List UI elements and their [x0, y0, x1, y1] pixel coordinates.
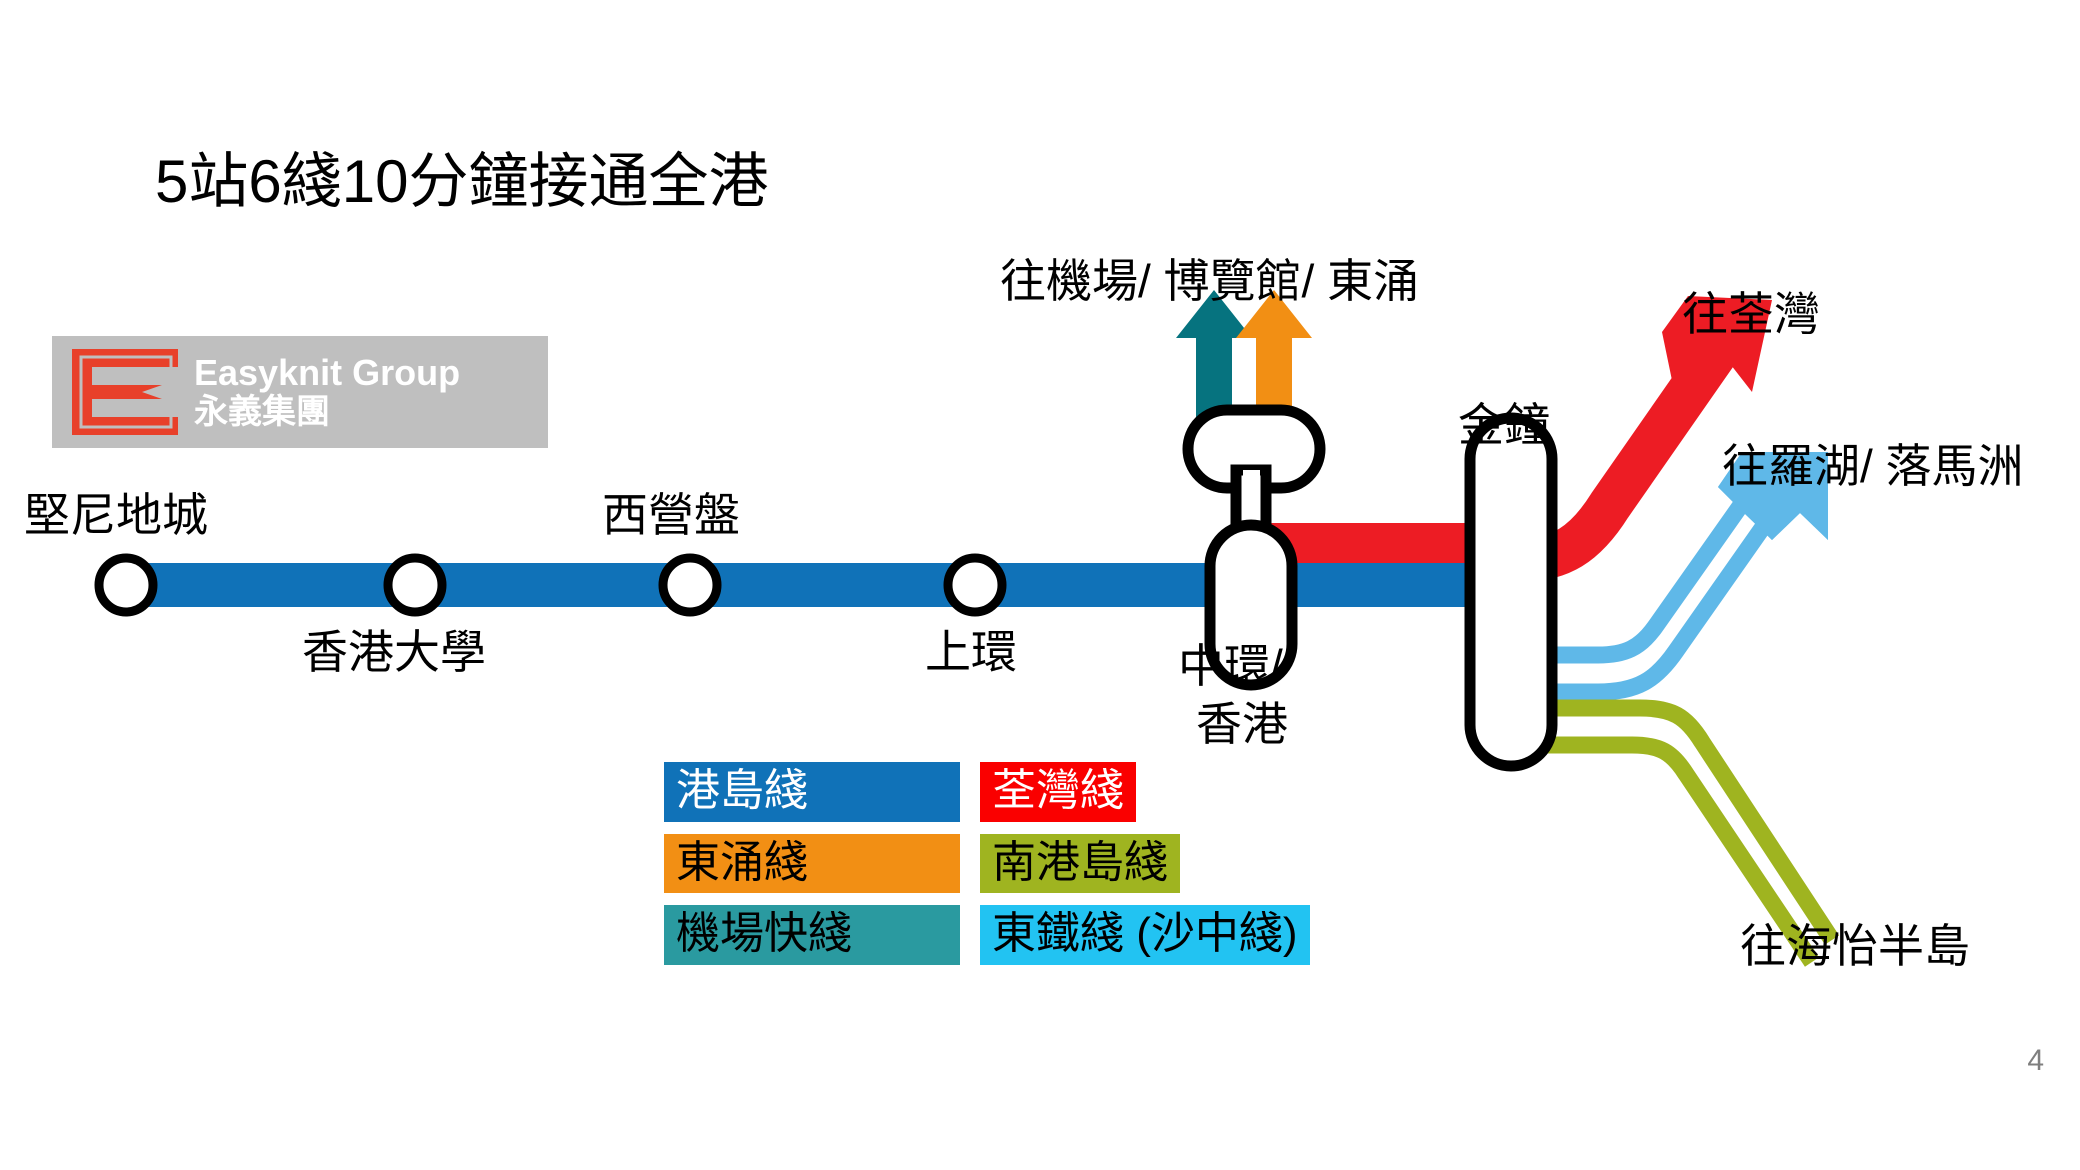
- island-line-track: [110, 563, 1530, 607]
- station-label-hku: 香港大學: [302, 625, 486, 679]
- page-number: 4: [2027, 1044, 2044, 1078]
- legend-chip-tsuen-wan-line[interactable]: 荃灣綫: [980, 762, 1136, 822]
- station-label-central-line1: 中環/: [1178, 638, 1283, 696]
- legend-chip-airport-express[interactable]: 機場快綫: [664, 905, 960, 965]
- logo-chinese-name: 永義集團: [194, 393, 460, 431]
- station-marker-hku[interactable]: [388, 558, 442, 612]
- station-marker-kennedy-town[interactable]: [99, 558, 153, 612]
- station-marker-admiralty[interactable]: [1470, 418, 1552, 766]
- station-label-admiralty: 金鐘: [1458, 398, 1550, 452]
- legend-chip-south-island-line[interactable]: 南港島綫: [980, 834, 1180, 894]
- destination-label-lo-wu: 往羅湖/ 落馬洲: [1722, 440, 2024, 493]
- station-label-central-line2: 香港: [1196, 696, 1288, 754]
- easyknit-logo-text: Easyknit Group 永義集團: [194, 353, 460, 431]
- slide-canvas: 5站6綫10分鐘接通全港 Easyknit Group 永義集團 堅尼地城 香港…: [0, 0, 2080, 1170]
- legend-chip-tung-chung-line[interactable]: 東涌綫: [664, 834, 960, 894]
- legend-row: 東涌綫 南港島綫: [664, 834, 1310, 894]
- legend-row: 機場快綫 東鐵綫 (沙中綫): [664, 905, 1310, 965]
- station-label-kennedy-town: 堅尼地城: [24, 488, 208, 542]
- easyknit-e-mark-icon: [70, 347, 180, 437]
- destination-label-airport: 往機場/ 博覽館/ 東涌: [1000, 255, 1419, 308]
- station-marker-sheung-wan[interactable]: [948, 558, 1002, 612]
- station-marker-sai-ying-pun[interactable]: [663, 558, 717, 612]
- line-color-legend: 港島綫 荃灣綫 東涌綫 南港島綫 機場快綫 東鐵綫 (沙中綫): [664, 762, 1310, 965]
- destination-label-tsuen-wan: 往荃灣: [1682, 288, 1820, 341]
- legend-chip-island-line[interactable]: 港島綫: [664, 762, 960, 822]
- logo-english-name: Easyknit Group: [194, 353, 460, 393]
- station-label-sai-ying-pun: 西營盤: [602, 488, 740, 542]
- easyknit-group-logo: Easyknit Group 永義集團: [52, 336, 548, 448]
- station-label-sheung-wan: 上環: [925, 625, 1017, 679]
- destination-label-south-horizons: 往海怡半島: [1740, 920, 1970, 973]
- page-title: 5站6綫10分鐘接通全港: [155, 150, 768, 213]
- legend-row: 港島綫 荃灣綫: [664, 762, 1310, 822]
- legend-chip-east-rail-line[interactable]: 東鐵綫 (沙中綫): [980, 905, 1310, 965]
